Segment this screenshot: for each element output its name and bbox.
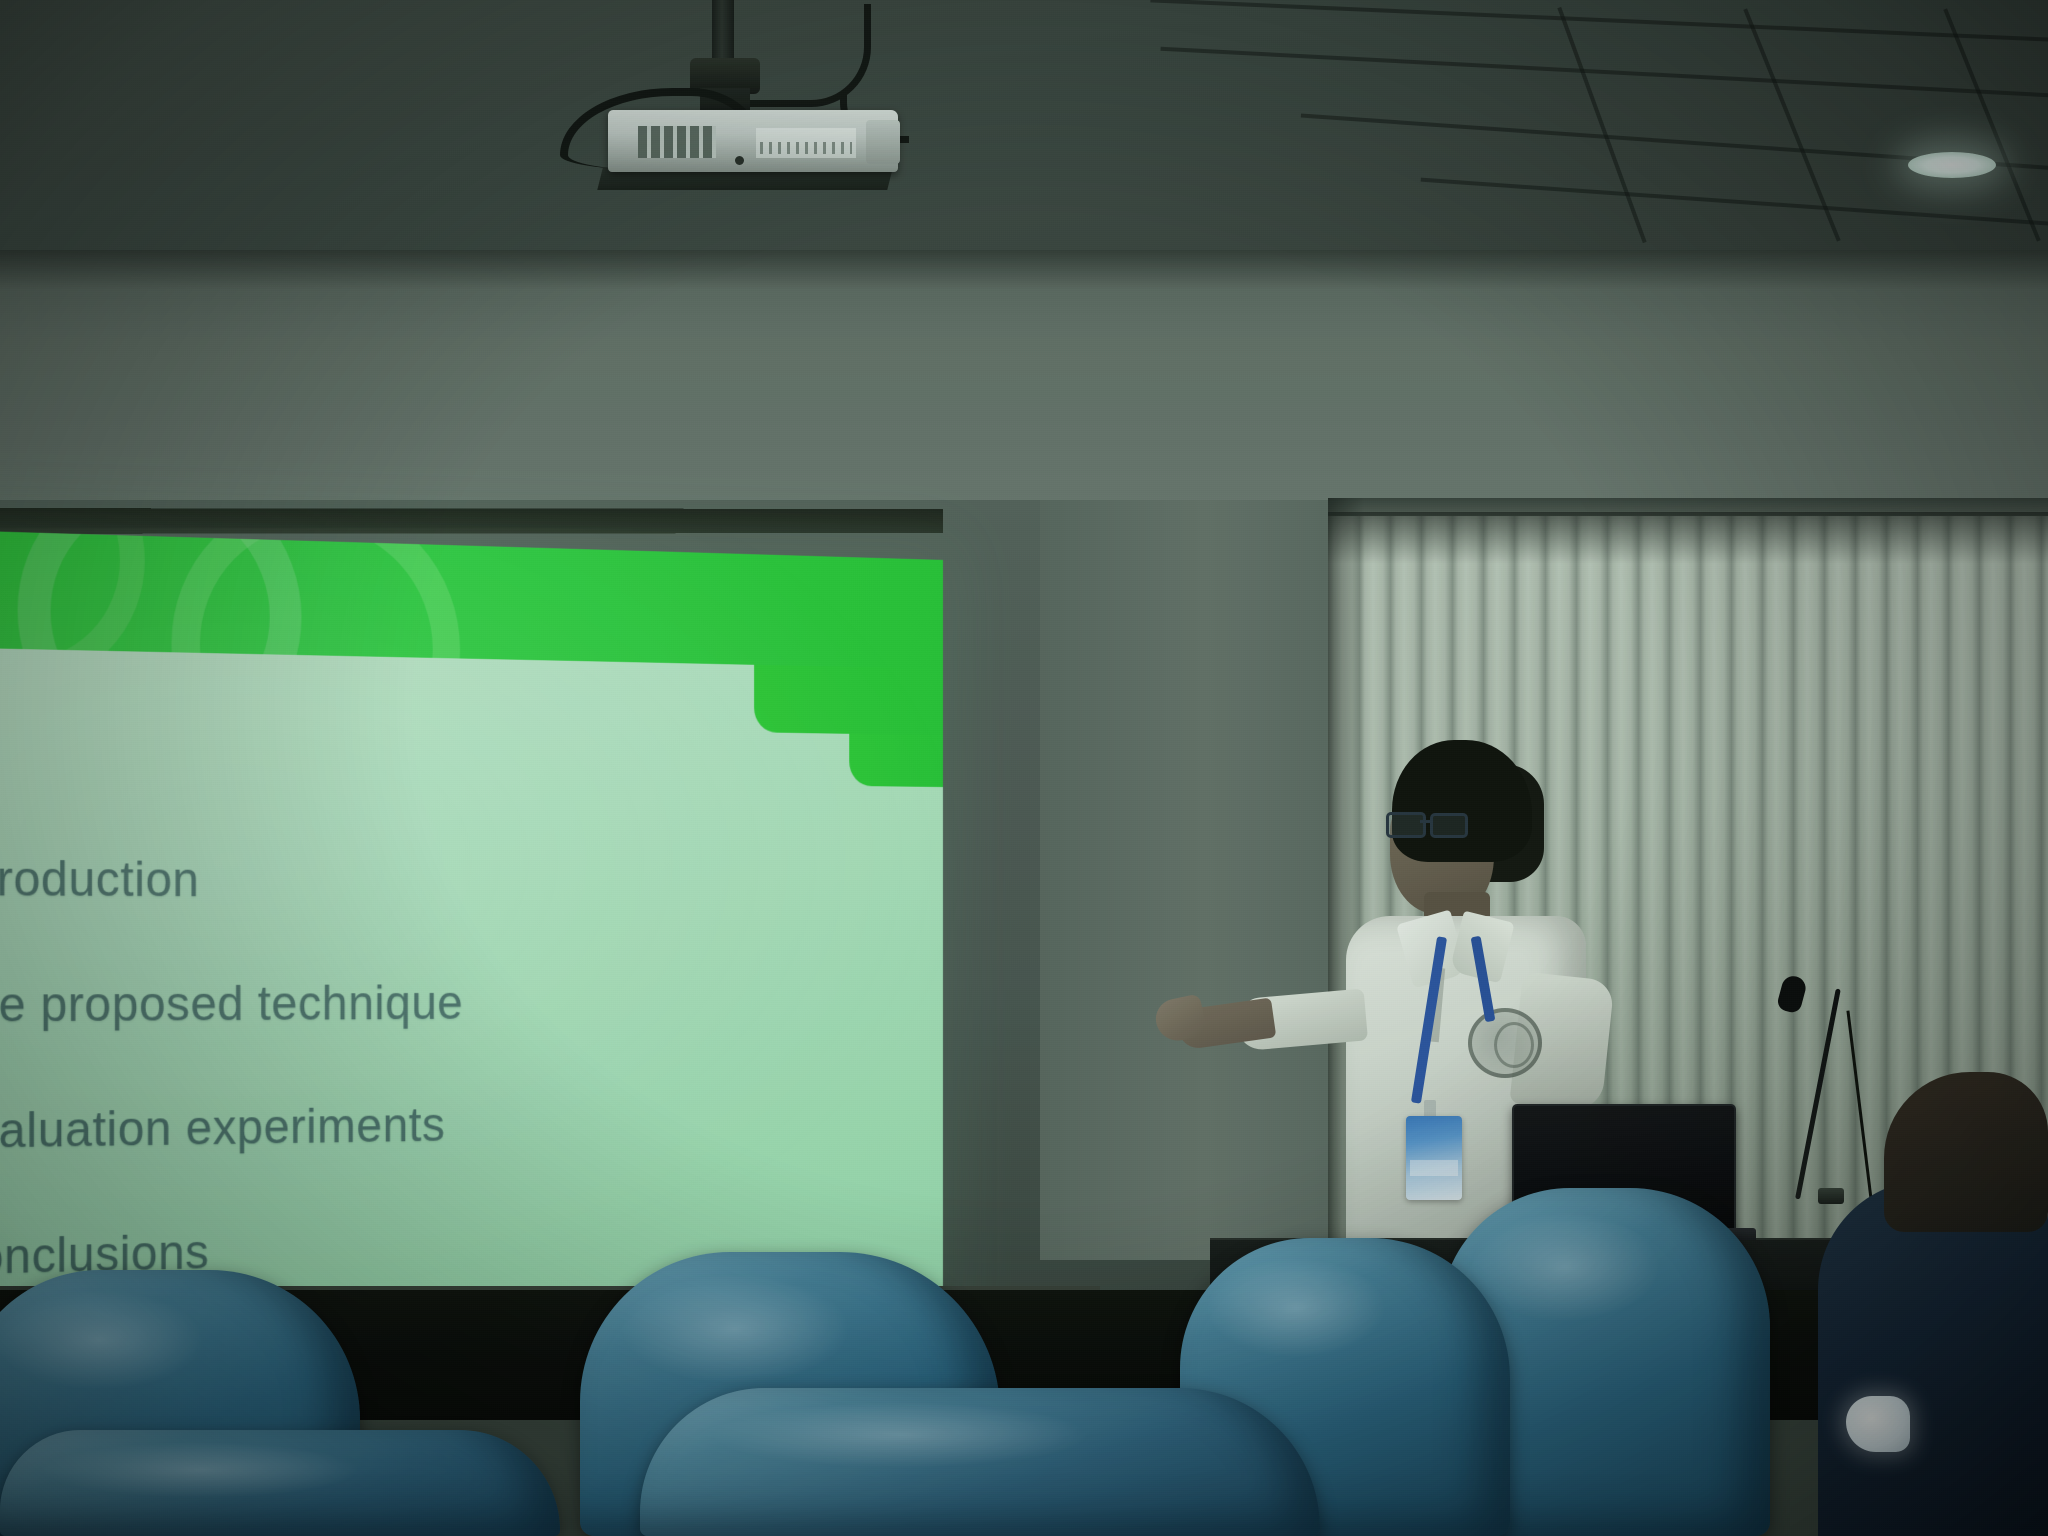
projector-indicator-icon [735, 156, 744, 165]
seat-highlight [620, 1274, 850, 1384]
audience-member-shoulder [1818, 1180, 2048, 1536]
list-item: Evaluation experiments [0, 1058, 943, 1195]
projector-vent-grille-icon [638, 126, 716, 158]
screen-top-frame [0, 508, 943, 534]
projector-label-text [760, 142, 852, 154]
list-item: Introduction [0, 814, 943, 941]
wall-pillar [1040, 500, 1340, 1260]
slide-corner-notch [754, 665, 943, 736]
auditorium-seat [640, 1388, 1320, 1536]
seat-highlight [710, 1402, 1090, 1468]
shirt-logo-icon [1468, 1008, 1542, 1078]
bullet-label: The proposed technique [0, 974, 463, 1033]
presentation-photo-scene: utline Introduction The proposed techniq… [0, 0, 2048, 1536]
projection-screen: utline Introduction The proposed techniq… [0, 528, 943, 1360]
name-badge [1406, 1116, 1462, 1200]
seat-highlight [1470, 1212, 1660, 1322]
projector-lens-icon [866, 120, 900, 164]
seat-highlight [0, 1290, 204, 1390]
slide-corner-notch [849, 734, 943, 787]
seat-highlight [40, 1442, 360, 1498]
ceiling-light-icon [1908, 152, 1996, 178]
glasses-lens-right [1430, 813, 1468, 838]
auditorium-seat [0, 1430, 560, 1536]
microphone-base [1818, 1188, 1844, 1204]
bullet-label: Evaluation experiments [0, 1096, 445, 1160]
glasses-lens-left [1386, 812, 1426, 838]
wall-shadow [0, 250, 2048, 290]
slide-bullet-list: Introduction The proposed technique Eval… [0, 814, 943, 1322]
seat-highlight [1206, 1258, 1386, 1358]
bullet-label: Introduction [0, 849, 199, 907]
ceiling [0, 0, 2048, 255]
presenter-hair [1392, 740, 1532, 862]
white-foreground-object [1846, 1396, 1910, 1452]
curtain-top-shadow [1328, 512, 2048, 564]
list-item: The proposed technique [0, 941, 943, 1068]
audience-member-head [1884, 1072, 2048, 1232]
name-badge-strip [1410, 1160, 1458, 1176]
glasses-icon [1386, 812, 1464, 832]
